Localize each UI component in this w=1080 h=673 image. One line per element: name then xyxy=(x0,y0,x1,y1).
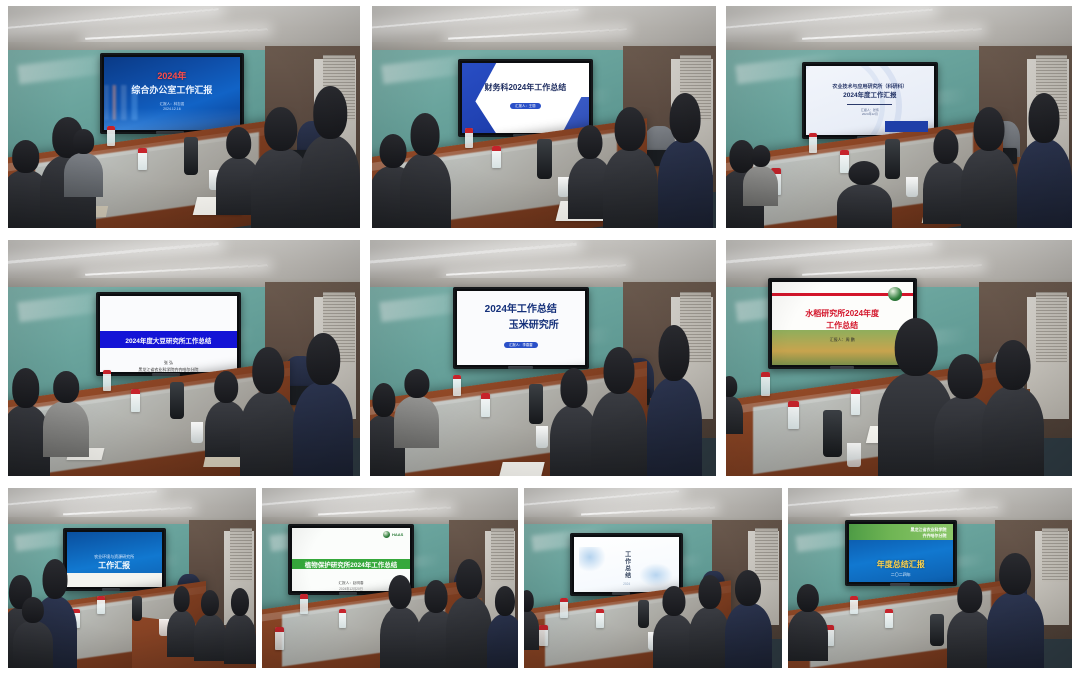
meeting-room-scene: 财务科2024年工作总结 汇报人：王丽 xyxy=(372,6,716,228)
water-bottle xyxy=(275,627,284,650)
attendee xyxy=(961,148,1016,228)
attendee xyxy=(194,614,226,661)
collage-photo-3: 农业技术与应用研究所（科研科） 2024年度工作汇报 汇报人：张伟 2024年1… xyxy=(726,6,1072,228)
water-bottle xyxy=(339,609,347,629)
attendee xyxy=(240,391,296,476)
attendee xyxy=(64,153,103,197)
slide-title-line2: 综合办公室工作汇报 xyxy=(131,85,212,96)
attendee xyxy=(653,614,694,668)
slide-sub1: 2024 xyxy=(574,582,678,586)
collage-photo-5: 2024年工作总结 玉米研究所 汇报人：李春雷 xyxy=(370,240,716,476)
slide-title-line1: 农业技术与应用研究所（科研科） xyxy=(832,84,907,90)
water-bottle xyxy=(465,128,473,148)
water-bottle xyxy=(885,609,894,629)
wall-display-2: 财务科2024年工作总结 汇报人：王丽 xyxy=(458,59,593,136)
wall-display-4: 2024年度大豆研究所工作总结 张 弘 黑龙江省农业科学院齐齐哈尔分院 xyxy=(96,292,241,376)
meeting-room-scene: 水稻研究所2024年度 工作总结 汇报人：周 鹏 xyxy=(726,240,1072,476)
meeting-room-scene: 2024年工作总结 玉米研究所 汇报人：李春雷 xyxy=(370,240,716,476)
collage-photo-6: 水稻研究所2024年度 工作总结 汇报人：周 鹏 xyxy=(726,240,1072,476)
slide-title-line1: 植物保护研究所2024年工作总结 xyxy=(305,559,397,569)
water-bottle xyxy=(840,150,849,172)
meeting-room-scene: 工作总结 2024 xyxy=(524,488,782,668)
slide-title-line2: 工作汇报 xyxy=(94,561,134,571)
thermal-kettle xyxy=(170,382,184,420)
water-bottle xyxy=(453,375,461,396)
attendee xyxy=(293,382,353,476)
presentation-slide-5: 2024年工作总结 玉米研究所 汇报人：李春雷 xyxy=(457,291,584,365)
tea-cup xyxy=(847,443,861,467)
slide-title-line2: 二〇二四年 xyxy=(877,572,925,577)
collage-photo-8: HAAS 植物保护研究所2024年工作总结 汇报人：赵明春 2024年12月20… xyxy=(262,488,518,668)
collage-photo-7: 农业环境与资源研究所 工作汇报 xyxy=(8,488,256,668)
water-bottle xyxy=(539,625,548,647)
collage-photo-9: 工作总结 2024 xyxy=(524,488,782,668)
wall-display-5: 2024年工作总结 玉米研究所 汇报人：李春雷 xyxy=(453,287,588,369)
slide-title-line1: 2024年工作总结 xyxy=(483,304,559,317)
thermal-kettle xyxy=(885,139,900,179)
water-bottle xyxy=(481,393,490,417)
haas-logo-text: HAAS xyxy=(392,532,403,537)
presentation-slide-10: 黑龙江省农业科学院 齐齐哈尔分院 年度总结汇报 二〇二四年 汇报人 xyxy=(849,524,953,581)
water-bottle xyxy=(850,596,858,614)
slide-sub1: 汇报人：李春雷 xyxy=(504,342,538,348)
slide-sub1: 汇报人：赵明春 xyxy=(338,581,363,585)
slide-title-line1: 财务科2024年工作总结 xyxy=(484,83,566,93)
thermal-kettle xyxy=(823,410,842,457)
slide-title-line1: 年度总结汇报 xyxy=(877,560,925,570)
attendee xyxy=(591,391,646,476)
thermal-kettle xyxy=(132,596,142,621)
attendee xyxy=(987,592,1044,668)
water-bottle xyxy=(788,401,798,429)
water-bottle xyxy=(138,148,147,170)
attendee xyxy=(167,610,197,657)
slide-sub2: 2024年12月20日 xyxy=(338,587,363,590)
slide-title-line1: 农业环境与资源研究所 xyxy=(94,554,134,559)
document-sheet xyxy=(500,462,545,476)
slide-title-line2: 工作总结 xyxy=(805,321,879,331)
collage-photo-10: 黑龙江省农业科学院 齐齐哈尔分院 年度总结汇报 二〇二四年 汇报人 xyxy=(788,488,1072,668)
institute-emblem-icon xyxy=(888,287,902,301)
meeting-room-scene: 2024年 综合办公室工作汇报 汇报人：林志强 2024.12.16 xyxy=(8,6,360,228)
slide-sub1: 汇报人：林志强 xyxy=(131,102,212,106)
tea-cup xyxy=(536,426,548,447)
attendee xyxy=(446,596,492,668)
water-bottle xyxy=(97,596,104,614)
attendee xyxy=(400,153,452,228)
meeting-room-scene: 黑龙江省农业科学院 齐齐哈尔分院 年度总结汇报 二〇二四年 汇报人 xyxy=(788,488,1072,668)
slide-title-line1: 2024年度大豆研究所工作总结 xyxy=(125,335,211,345)
attendee xyxy=(13,621,53,668)
thermal-kettle xyxy=(529,384,543,424)
slide-title-line1: 工作总结 xyxy=(624,551,630,579)
thermal-kettle xyxy=(184,137,198,175)
photo-collage: 2024年 综合办公室工作汇报 汇报人：林志强 2024.12.16 xyxy=(0,0,1080,673)
attendee xyxy=(647,377,702,476)
slide-sub2: 黑龙江省农业科学院齐齐哈尔分院 xyxy=(138,367,198,372)
wall-display-1: 2024年 综合办公室工作汇报 汇报人：林志强 2024.12.16 xyxy=(100,53,245,135)
water-bottle xyxy=(131,389,140,413)
meeting-room-scene: 农业环境与资源研究所 工作汇报 xyxy=(8,488,256,668)
thermal-kettle xyxy=(638,600,650,629)
wall-display-10: 黑龙江省农业科学院 齐齐哈尔分院 年度总结汇报 二〇二四年 汇报人 xyxy=(845,520,957,585)
water-bottle xyxy=(300,594,308,614)
wall-display-3: 农业技术与应用研究所（科研科） 2024年度工作汇报 汇报人：张伟 2024年1… xyxy=(802,62,937,139)
collage-photo-2: 财务科2024年工作总结 汇报人：王丽 xyxy=(372,6,716,228)
water-bottle xyxy=(103,370,111,391)
attendee xyxy=(224,614,256,664)
slide-title-line2: 玉米研究所 xyxy=(483,320,559,333)
presentation-slide-9: 工作总结 2024 xyxy=(574,537,678,592)
water-bottle xyxy=(761,372,770,396)
tea-cup xyxy=(191,422,203,443)
attendee xyxy=(1017,139,1072,228)
slide-header-line1: 黑龙江省农业科学院 xyxy=(910,527,946,532)
attendee xyxy=(982,386,1044,476)
meeting-room-scene: HAAS 植物保护研究所2024年工作总结 汇报人：赵明春 2024年12月20… xyxy=(262,488,518,668)
attendee xyxy=(689,607,730,668)
presentation-slide-3: 农业技术与应用研究所（科研科） 2024年度工作汇报 汇报人：张伟 2024年1… xyxy=(806,66,933,135)
slide-header-line2: 齐齐哈尔分院 xyxy=(910,533,946,538)
slide-title-line1: 2024年 xyxy=(131,71,212,82)
water-bottle xyxy=(596,609,604,629)
attendee xyxy=(487,614,518,668)
attendee xyxy=(603,148,658,228)
slide-sub1: 张 弘 xyxy=(138,360,198,365)
collage-photo-4: 2024年度大豆研究所工作总结 张 弘 黑龙江省农业科学院齐齐哈尔分院 xyxy=(8,240,360,476)
attendee xyxy=(947,610,992,668)
slide-title-line2: 2024年度工作汇报 xyxy=(832,92,907,100)
presentation-slide-1: 2024年 综合办公室工作汇报 汇报人：林志强 2024.12.16 xyxy=(104,57,241,131)
wall-display-7: 农业环境与资源研究所 工作汇报 xyxy=(63,528,166,591)
water-bottle xyxy=(851,389,860,415)
slide-sub2: 2024年12月 xyxy=(832,113,907,117)
slide-sub2: 2024.12.16 xyxy=(131,107,212,111)
presentation-slide-2: 财务科2024年工作总结 汇报人：王丽 xyxy=(462,63,589,132)
thermal-kettle xyxy=(930,614,944,646)
slide-sub1: 汇报人：周 鹏 xyxy=(772,337,913,343)
meeting-room-scene: 农业技术与应用研究所（科研科） 2024年度工作汇报 汇报人：张伟 2024年1… xyxy=(726,6,1072,228)
attendee xyxy=(658,139,713,228)
water-bottle xyxy=(560,598,568,618)
attendee xyxy=(394,396,439,448)
presentation-slide-4: 2024年度大豆研究所工作总结 张 弘 黑龙江省农业科学院齐齐哈尔分院 xyxy=(100,296,237,372)
haas-logo-icon xyxy=(383,531,390,538)
meeting-room-scene: 2024年度大豆研究所工作总结 张 弘 黑龙江省农业科学院齐齐哈尔分院 xyxy=(8,240,360,476)
water-bottle xyxy=(492,146,501,168)
attendee xyxy=(380,607,421,668)
attendee xyxy=(837,184,892,228)
attendee xyxy=(43,401,89,458)
attendee xyxy=(300,135,360,228)
collage-photo-1: 2024年 综合办公室工作汇报 汇报人：林志强 2024.12.16 xyxy=(8,6,360,228)
slide-sub1: 汇报人：王丽 xyxy=(510,103,540,109)
presentation-slide-6: 水稻研究所2024年度 工作总结 汇报人：周 鹏 xyxy=(772,282,913,365)
thermal-kettle xyxy=(537,139,551,179)
presentation-slide-7: 农业环境与资源研究所 工作汇报 xyxy=(67,532,162,587)
water-bottle xyxy=(809,133,817,153)
attendee xyxy=(788,610,828,660)
attendee xyxy=(725,603,771,668)
water-bottle xyxy=(107,126,115,146)
wall-display-9: 工作总结 2024 xyxy=(570,533,682,596)
tea-cup xyxy=(906,177,918,197)
slide-title-line1: 水稻研究所2024年度 xyxy=(805,309,879,319)
attendee xyxy=(743,166,778,206)
